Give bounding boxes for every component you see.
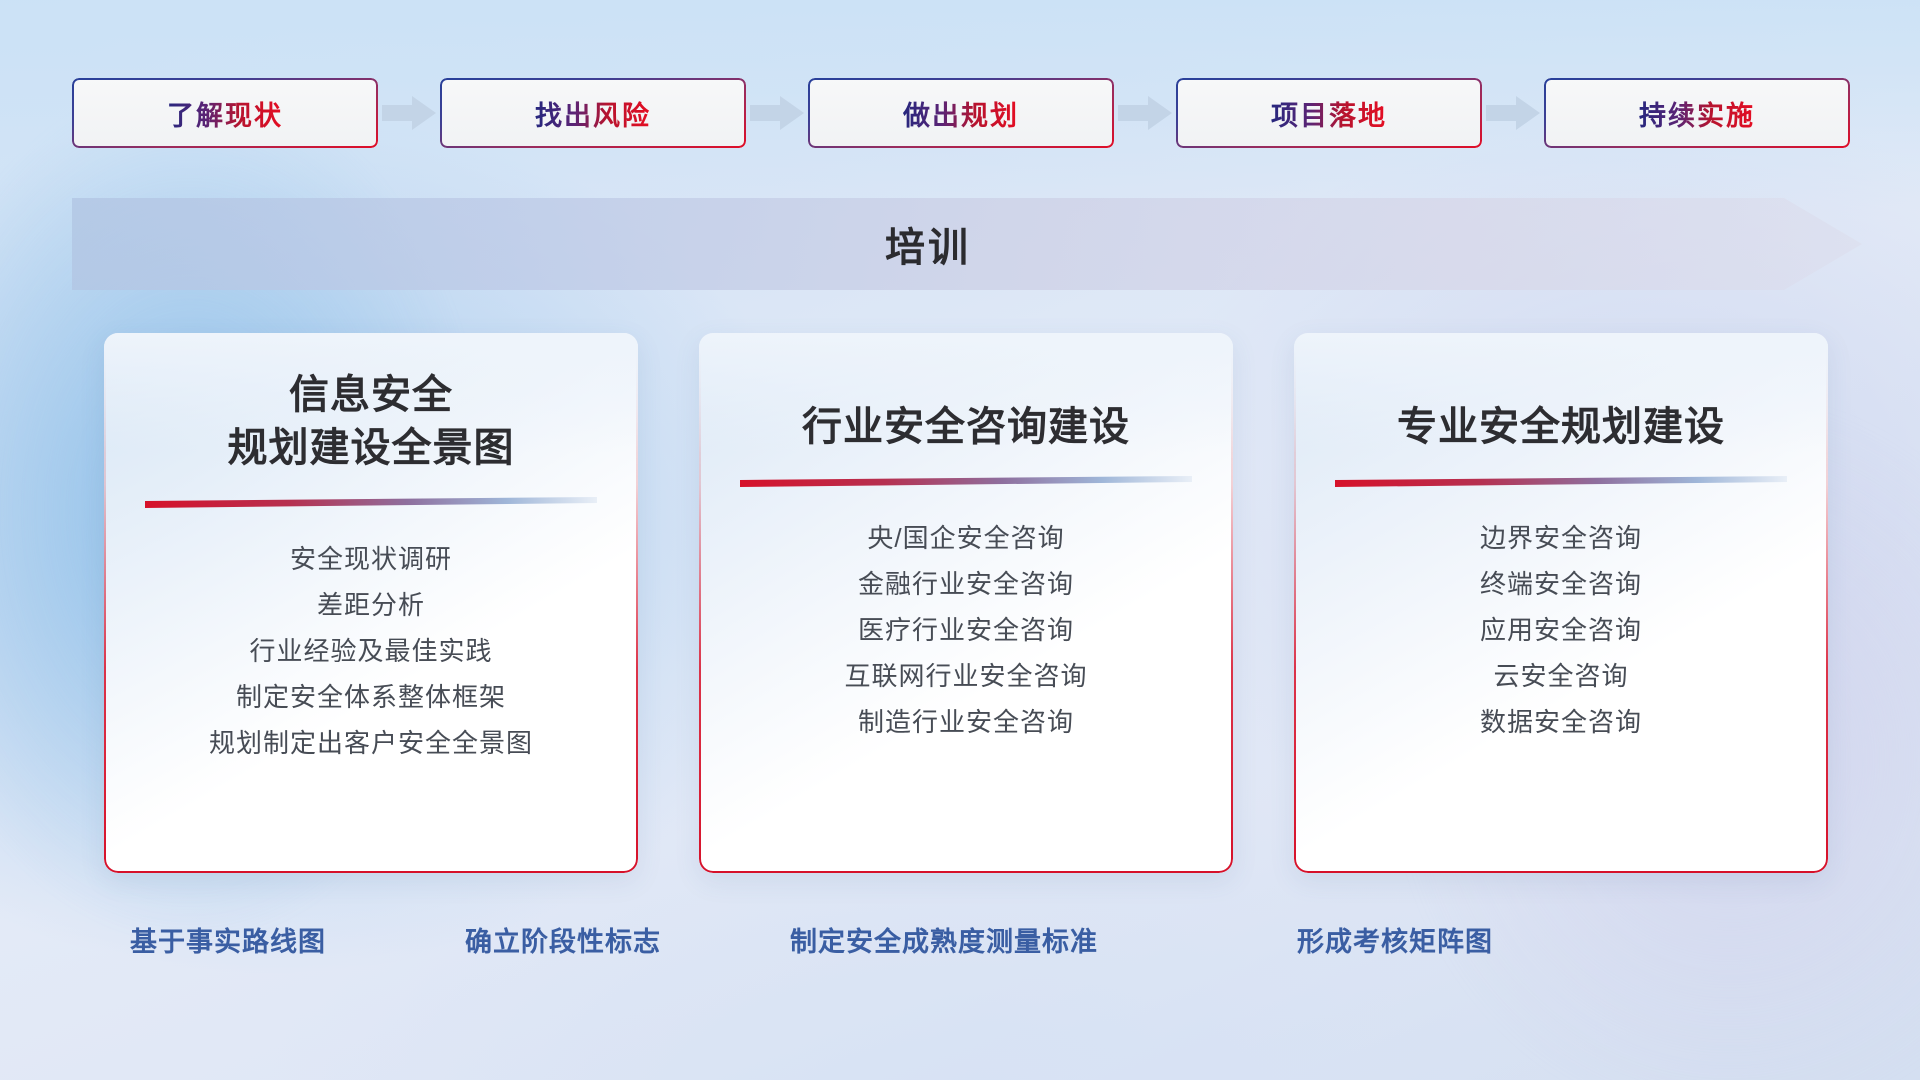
process-step-label: 做出规划 xyxy=(903,94,1019,133)
right-arrow-icon xyxy=(378,93,440,133)
service-card[interactable]: 专业安全规划建设 xyxy=(1294,333,1828,873)
card-title: 专业安全规划建设 xyxy=(1320,401,1802,454)
service-card[interactable]: 行业安全咨询建设 xyxy=(699,333,1233,873)
card-divider xyxy=(145,497,597,510)
card-list-item: 数据安全咨询 xyxy=(1320,699,1802,745)
service-card-group: 信息安全 规划建设全景图 xyxy=(104,333,1864,873)
card-list-item: 行业经验及最佳实践 xyxy=(130,628,612,674)
card-title-line: 专业安全规划建设 xyxy=(1320,401,1802,454)
process-step-4[interactable]: 持续实施 xyxy=(1544,78,1850,148)
bottom-caption-row: 基于事实路线图 确立阶段性标志 制定安全成熟度测量标准 形成考核矩阵图 xyxy=(0,920,1920,970)
card-list-item: 制造行业安全咨询 xyxy=(725,699,1207,745)
process-step-label: 找出风险 xyxy=(535,94,651,133)
card-list-item: 央/国企安全咨询 xyxy=(725,515,1207,561)
card-list-item: 云安全咨询 xyxy=(1320,653,1802,699)
training-banner: 培训 xyxy=(72,198,1862,290)
bottom-caption: 形成考核矩阵图 xyxy=(1297,920,1493,959)
process-step-0[interactable]: 了解现状 xyxy=(72,78,378,148)
training-banner-label: 培训 xyxy=(72,198,1784,290)
card-title-line: 行业安全咨询建设 xyxy=(725,401,1207,454)
card-list-item: 制定安全体系整体框架 xyxy=(130,674,612,720)
process-step-flow: 了解现状 找出风险 做出规划 项目落地 xyxy=(72,78,1848,148)
card-list-item: 互联网行业安全咨询 xyxy=(725,653,1207,699)
process-step-1[interactable]: 找出风险 xyxy=(440,78,746,148)
card-divider xyxy=(1335,476,1787,489)
right-arrow-icon xyxy=(1114,93,1176,133)
card-list-item: 边界安全咨询 xyxy=(1320,515,1802,561)
bottom-caption: 确立阶段性标志 xyxy=(465,920,661,959)
service-card[interactable]: 信息安全 规划建设全景图 xyxy=(104,333,638,873)
card-item-list: 安全现状调研 差距分析 行业经验及最佳实践 制定安全体系整体框架 规划制定出客户… xyxy=(130,536,612,766)
process-step-label: 项目落地 xyxy=(1271,94,1387,133)
bottom-caption: 基于事实路线图 xyxy=(130,920,326,959)
card-item-list: 边界安全咨询 终端安全咨询 应用安全咨询 云安全咨询 数据安全咨询 xyxy=(1320,515,1802,745)
card-list-item: 应用安全咨询 xyxy=(1320,607,1802,653)
right-arrow-icon xyxy=(746,93,808,133)
card-list-item: 金融行业安全咨询 xyxy=(725,561,1207,607)
card-title-line: 规划建设全景图 xyxy=(130,422,612,475)
card-title: 信息安全 规划建设全景图 xyxy=(130,369,612,475)
card-title: 行业安全咨询建设 xyxy=(725,401,1207,454)
card-list-item: 终端安全咨询 xyxy=(1320,561,1802,607)
process-step-label: 持续实施 xyxy=(1639,94,1755,133)
card-list-item: 差距分析 xyxy=(130,582,612,628)
card-list-item: 医疗行业安全咨询 xyxy=(725,607,1207,653)
card-list-item: 安全现状调研 xyxy=(130,536,612,582)
bottom-caption: 制定安全成熟度测量标准 xyxy=(790,920,1098,959)
card-item-list: 央/国企安全咨询 金融行业安全咨询 医疗行业安全咨询 互联网行业安全咨询 制造行… xyxy=(725,515,1207,745)
card-divider xyxy=(740,476,1192,489)
card-title-line: 信息安全 xyxy=(130,369,612,422)
process-step-label: 了解现状 xyxy=(167,94,283,133)
process-step-2[interactable]: 做出规划 xyxy=(808,78,1114,148)
card-list-item: 规划制定出客户安全全景图 xyxy=(130,720,612,766)
process-step-3[interactable]: 项目落地 xyxy=(1176,78,1482,148)
right-arrow-icon xyxy=(1482,93,1544,133)
slide-canvas: 了解现状 找出风险 做出规划 项目落地 xyxy=(0,0,1920,1080)
